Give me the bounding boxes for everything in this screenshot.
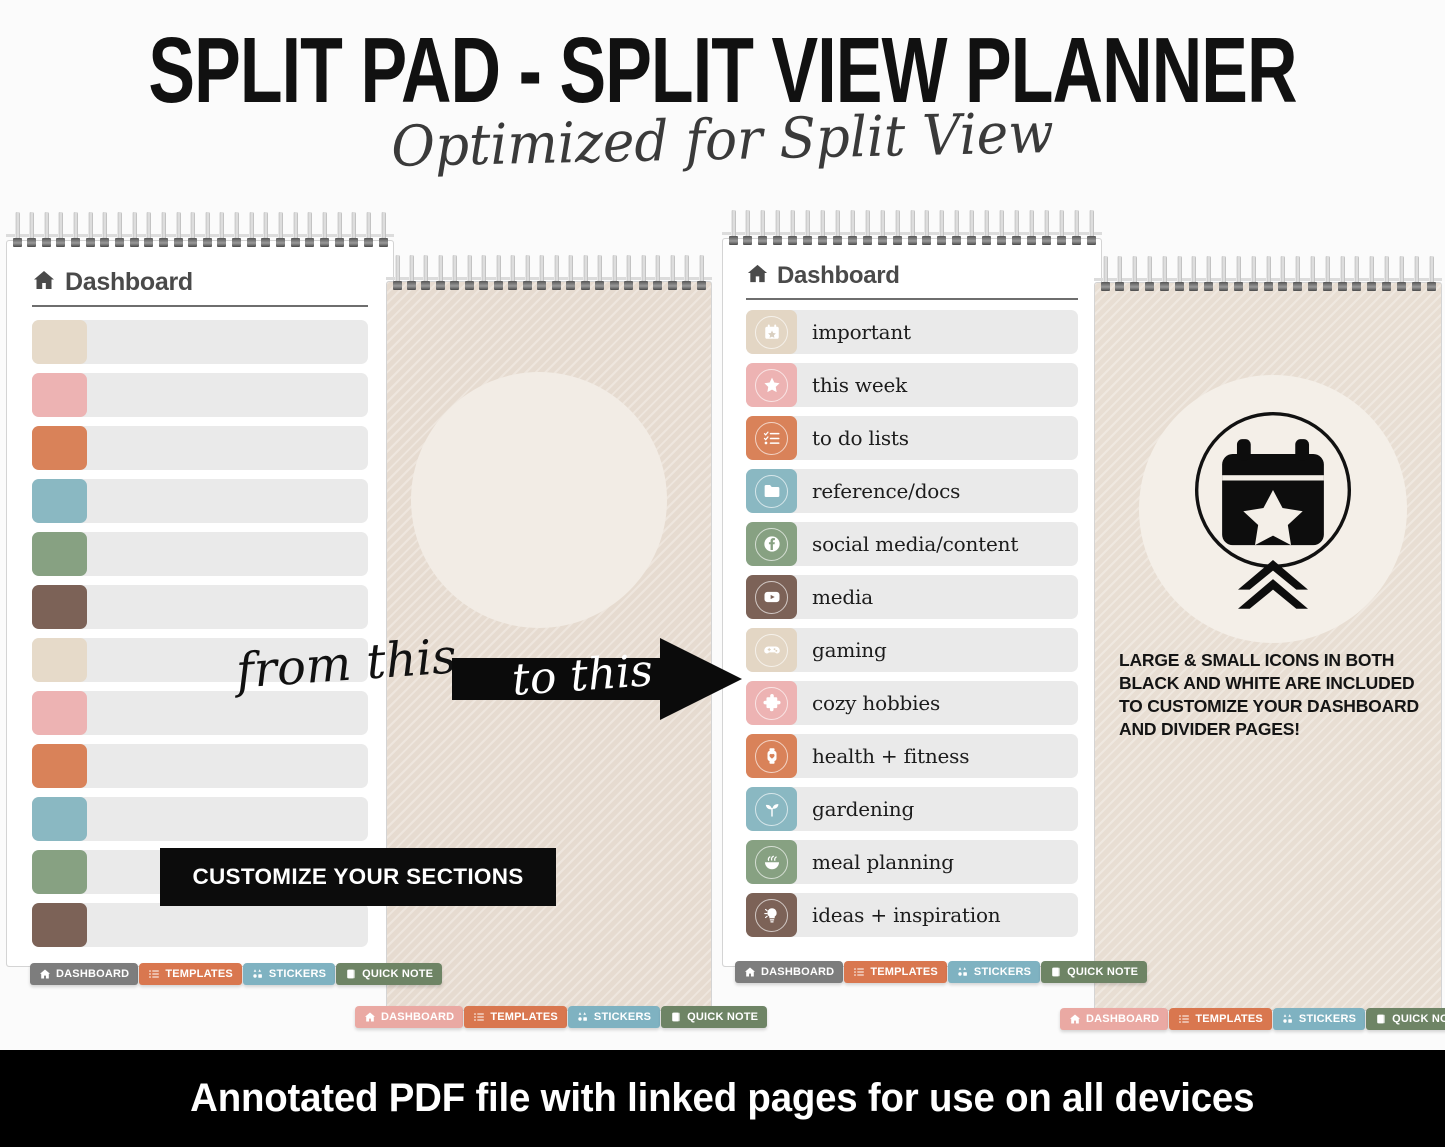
description-line: TO CUSTOMIZE YOUR DASHBOARD <box>1119 695 1429 718</box>
section-row[interactable] <box>32 532 368 576</box>
section-label: reference/docs <box>812 479 960 503</box>
gamepad-icon <box>755 634 788 667</box>
tab-label: STICKERS <box>594 1011 651 1023</box>
customize-sections-banner: CUSTOMIZE YOUR SECTIONS <box>160 848 556 906</box>
tab-dashboard[interactable]: DASHBOARD <box>735 961 843 983</box>
spiral-bar <box>386 277 712 280</box>
section-color-swatch[interactable] <box>32 426 87 470</box>
spiral-bar <box>6 234 394 237</box>
section-label: social media/content <box>812 532 1018 556</box>
tab-dashboard[interactable]: DASHBOARD <box>30 963 138 985</box>
note-icon <box>345 968 357 980</box>
puzzle-icon <box>755 687 788 720</box>
tab-quick-note[interactable]: QUICK NOTE <box>1041 961 1147 983</box>
tabbar-panel3[interactable]: DASHBOARDTEMPLATESSTICKERSQUICK NOTE <box>735 961 1147 983</box>
tab-label: QUICK NOTE <box>1067 966 1138 978</box>
section-color-swatch[interactable] <box>746 575 797 619</box>
tab-label: QUICK NOTE <box>362 968 433 980</box>
section-color-swatch[interactable] <box>746 469 797 513</box>
section-color-swatch[interactable] <box>746 363 797 407</box>
section-label: meal planning <box>812 850 954 874</box>
section-row[interactable] <box>32 320 368 364</box>
section-row[interactable]: ideas + inspiration <box>746 893 1078 937</box>
tab-label: DASHBOARD <box>761 966 834 978</box>
section-row[interactable] <box>32 744 368 788</box>
tab-templates[interactable]: TEMPLATES <box>844 961 947 983</box>
bowl-icon <box>755 846 788 879</box>
plant-icon <box>755 793 788 826</box>
tab-dashboard[interactable]: DASHBOARD <box>355 1006 463 1028</box>
home-icon <box>32 268 56 297</box>
section-label: important <box>812 320 911 344</box>
section-color-swatch[interactable] <box>32 850 87 894</box>
section-color-swatch[interactable] <box>746 787 797 831</box>
section-color-swatch[interactable] <box>32 797 87 841</box>
tab-label: TEMPLATES <box>870 966 938 978</box>
tab-label: STICKERS <box>269 968 326 980</box>
section-color-swatch[interactable] <box>32 479 87 523</box>
tabbar-panel1[interactable]: DASHBOARDTEMPLATESSTICKERSQUICK NOTE <box>30 963 442 985</box>
list-icon <box>473 1011 485 1023</box>
home-icon <box>39 968 51 980</box>
tab-label: QUICK NOTE <box>687 1011 758 1023</box>
tab-stickers[interactable]: STICKERS <box>1273 1008 1365 1030</box>
description-line: BLACK AND WHITE ARE INCLUDED <box>1119 672 1429 695</box>
annotation-to-this: to this <box>510 645 654 706</box>
home-icon <box>364 1011 376 1023</box>
home-icon <box>746 262 769 290</box>
home-icon <box>744 966 756 978</box>
section-color-swatch[interactable] <box>32 744 87 788</box>
stickers-icon <box>577 1011 589 1023</box>
calendar-star-large-icon <box>1167 401 1379 613</box>
panel4-paper: LARGE & SMALL ICONS IN BOTHBLACK AND WHI… <box>1094 282 1442 1011</box>
section-row[interactable]: reference/docs <box>746 469 1078 513</box>
note-icon <box>1050 966 1062 978</box>
youtube-icon <box>755 581 788 614</box>
section-color-swatch[interactable] <box>32 638 87 682</box>
tab-label: DASHBOARD <box>56 968 129 980</box>
stickers-icon <box>1282 1013 1294 1025</box>
section-color-swatch[interactable] <box>32 320 87 364</box>
section-row[interactable] <box>32 691 368 735</box>
section-color-swatch[interactable] <box>32 585 87 629</box>
description-line: AND DIVIDER PAGES! <box>1119 718 1429 741</box>
section-color-swatch[interactable] <box>32 691 87 735</box>
tab-label: QUICK NOTE <box>1392 1013 1445 1025</box>
section-color-swatch[interactable] <box>746 840 797 884</box>
tab-label: TEMPLATES <box>1195 1013 1263 1025</box>
calendar-star-icon <box>755 316 788 349</box>
section-color-swatch[interactable] <box>746 416 797 460</box>
section-row[interactable]: meal planning <box>746 840 1078 884</box>
section-row[interactable]: this week <box>746 363 1078 407</box>
section-color-swatch[interactable] <box>746 681 797 725</box>
section-label: health + fitness <box>812 744 969 768</box>
section-color-swatch[interactable] <box>746 734 797 778</box>
section-color-swatch[interactable] <box>32 532 87 576</box>
panel3-section-list: importantthis weekto do listsreference/d… <box>746 310 1078 946</box>
section-row[interactable]: gaming <box>746 628 1078 672</box>
panel3-divider <box>746 298 1078 300</box>
section-row[interactable]: social media/content <box>746 522 1078 566</box>
tab-quick-note[interactable]: QUICK NOTE <box>661 1006 767 1028</box>
section-color-swatch[interactable] <box>32 903 87 947</box>
description-line: LARGE & SMALL ICONS IN BOTH <box>1119 649 1429 672</box>
tab-label: TEMPLATES <box>165 968 233 980</box>
tab-label: TEMPLATES <box>490 1011 558 1023</box>
section-row[interactable] <box>32 426 368 470</box>
spiral-bar <box>1094 278 1442 281</box>
tab-templates[interactable]: TEMPLATES <box>464 1006 567 1028</box>
list-icon <box>853 966 865 978</box>
tabbar-panel2[interactable]: DASHBOARDTEMPLATESSTICKERSQUICK NOTE <box>355 1006 767 1028</box>
section-label: gardening <box>812 797 914 821</box>
star-icon <box>755 369 788 402</box>
checklist-icon <box>755 422 788 455</box>
panel1-header: Dashboard <box>32 260 368 304</box>
tab-dashboard[interactable]: DASHBOARD <box>1060 1008 1168 1030</box>
section-label: media <box>812 585 873 609</box>
footer-banner: Annotated PDF file with linked pages for… <box>0 1050 1445 1147</box>
lightbulb-icon <box>755 899 788 932</box>
section-row[interactable] <box>32 797 368 841</box>
section-row[interactable] <box>32 373 368 417</box>
section-row[interactable]: gardening <box>746 787 1078 831</box>
folder-icon <box>755 475 788 508</box>
stickers-icon <box>252 968 264 980</box>
panel2-circle-placeholder <box>411 372 667 628</box>
tab-templates[interactable]: TEMPLATES <box>139 963 242 985</box>
section-color-swatch[interactable] <box>746 310 797 354</box>
section-label: to do lists <box>812 426 909 450</box>
panel1-divider <box>32 305 368 307</box>
tab-stickers[interactable]: STICKERS <box>243 963 335 985</box>
tab-label: STICKERS <box>1299 1013 1356 1025</box>
watch-heart-icon <box>755 740 788 773</box>
tabbar-panel4[interactable]: DASHBOARDTEMPLATESSTICKERSQUICK NOTE <box>1060 1008 1445 1030</box>
spiral-bar <box>722 232 1102 235</box>
section-row[interactable]: cozy hobbies <box>746 681 1078 725</box>
panel3-header: Dashboard <box>746 255 1078 297</box>
note-icon <box>670 1011 682 1023</box>
banner-label: CUSTOMIZE YOUR SECTIONS <box>192 864 523 890</box>
stickers-icon <box>957 966 969 978</box>
section-row[interactable] <box>32 479 368 523</box>
section-label: gaming <box>812 638 887 662</box>
list-icon <box>148 968 160 980</box>
facebook-icon <box>755 528 788 561</box>
section-row[interactable] <box>32 585 368 629</box>
section-label: ideas + inspiration <box>812 903 1000 927</box>
section-label: cozy hobbies <box>812 691 940 715</box>
tab-label: DASHBOARD <box>1086 1013 1159 1025</box>
tab-quick-note[interactable]: QUICK NOTE <box>1366 1008 1445 1030</box>
section-color-swatch[interactable] <box>746 893 797 937</box>
section-color-swatch[interactable] <box>32 373 87 417</box>
panel4-description: LARGE & SMALL ICONS IN BOTHBLACK AND WHI… <box>1119 649 1429 741</box>
list-icon <box>1178 1013 1190 1025</box>
note-icon <box>1375 1013 1387 1025</box>
section-label: this week <box>812 373 907 397</box>
panel3-title: Dashboard <box>777 262 900 290</box>
home-icon <box>1069 1013 1081 1025</box>
panel1-title: Dashboard <box>65 268 193 297</box>
planner-panel-labeled[interactable]: Dashboard importantthis weekto do listsr… <box>722 210 1102 967</box>
tab-stickers[interactable]: STICKERS <box>948 961 1040 983</box>
tab-templates[interactable]: TEMPLATES <box>1169 1008 1272 1030</box>
planner-panel-texture-right[interactable]: LARGE & SMALL ICONS IN BOTHBLACK AND WHI… <box>1094 256 1442 1011</box>
header: SPLIT PAD - SPLIT VIEW PLANNER Optimized… <box>0 0 1445 200</box>
section-row[interactable] <box>32 903 368 947</box>
section-row[interactable]: important <box>746 310 1078 354</box>
tab-quick-note[interactable]: QUICK NOTE <box>336 963 442 985</box>
tab-label: STICKERS <box>974 966 1031 978</box>
section-row[interactable]: to do lists <box>746 416 1078 460</box>
section-row[interactable]: media <box>746 575 1078 619</box>
tab-label: DASHBOARD <box>381 1011 454 1023</box>
arrow-annotation: to this <box>452 636 744 722</box>
section-row[interactable]: health + fitness <box>746 734 1078 778</box>
tab-stickers[interactable]: STICKERS <box>568 1006 660 1028</box>
section-color-swatch[interactable] <box>746 628 797 672</box>
footer-label: Annotated PDF file with linked pages for… <box>190 1076 1254 1121</box>
section-color-swatch[interactable] <box>746 522 797 566</box>
